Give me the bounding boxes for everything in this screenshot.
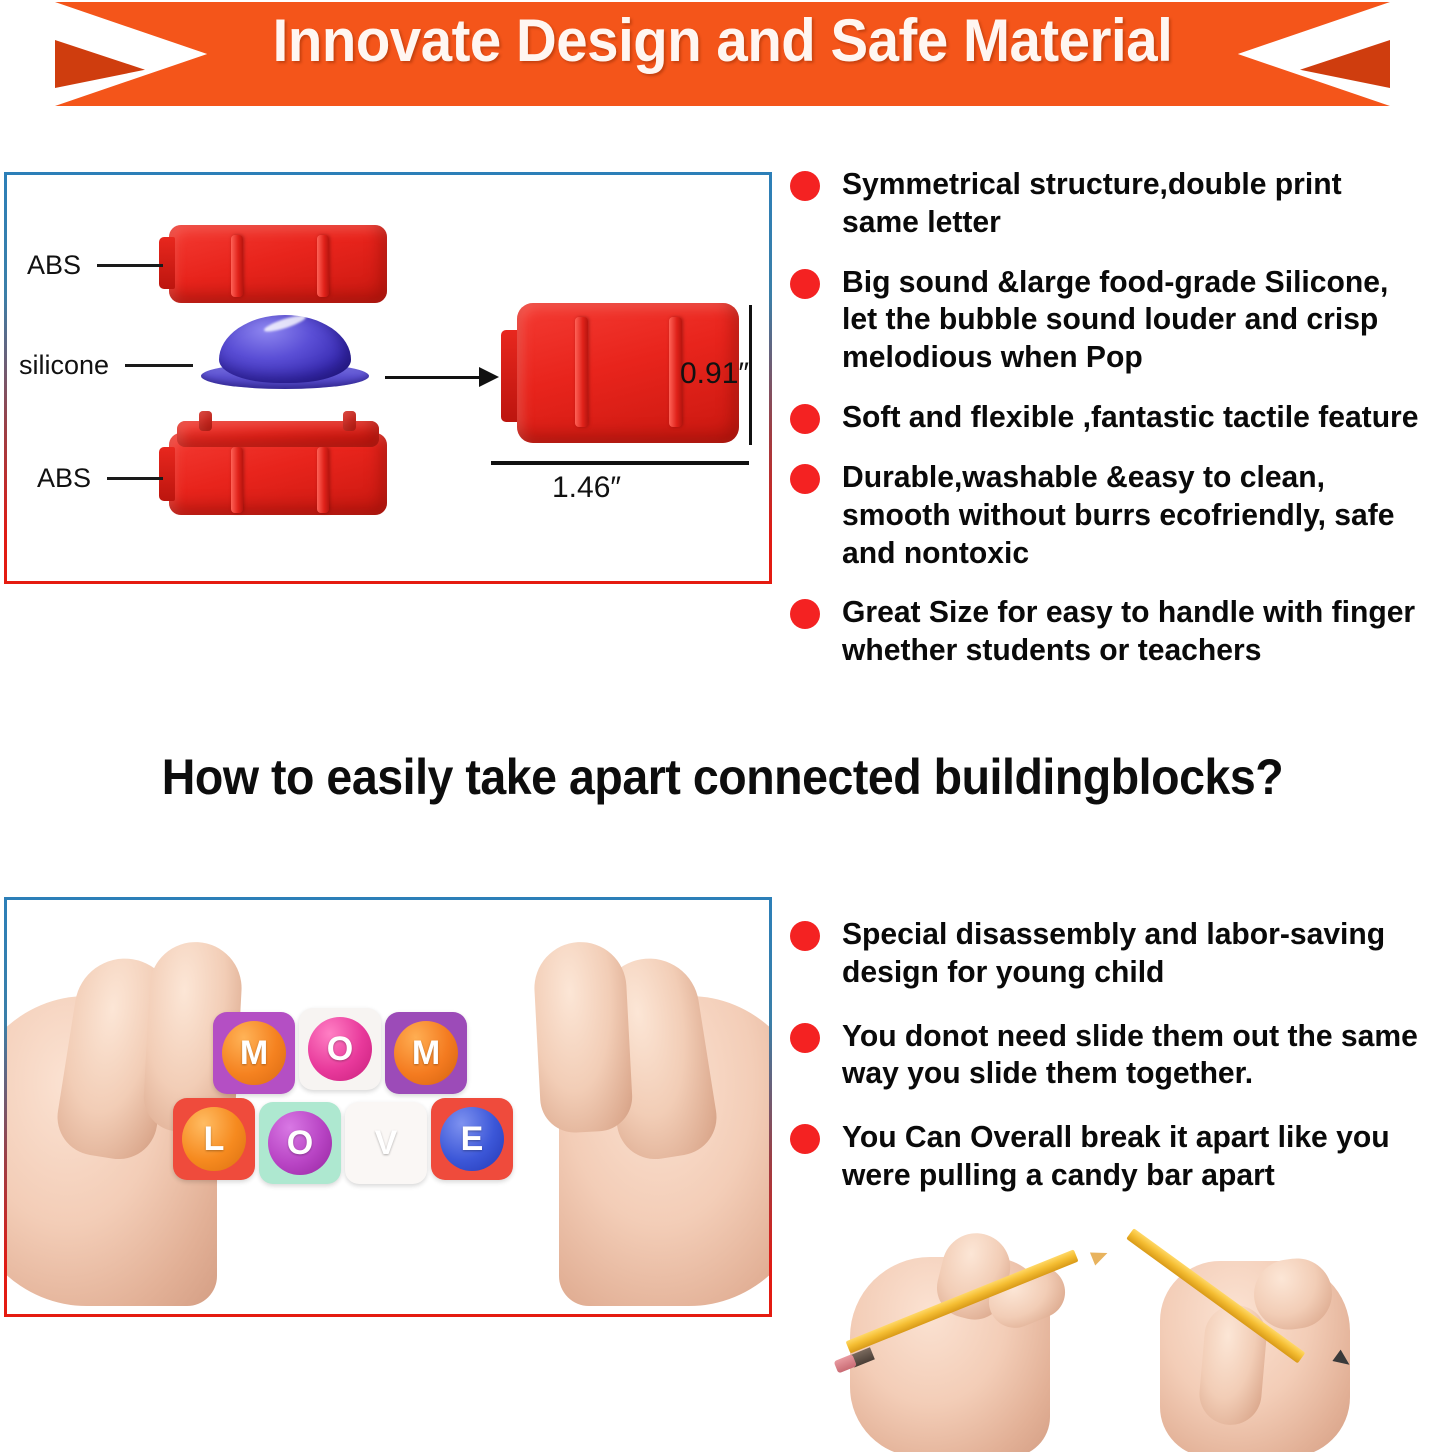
- abs-top-rib-right: [317, 235, 329, 297]
- letter-dome-o1: O: [308, 1017, 372, 1081]
- letter-block-o1[interactable]: O: [299, 1008, 381, 1090]
- dimension-height-label: 0.91″: [680, 357, 749, 391]
- hands-blocks-photo-panel: M O M L O V E: [4, 897, 772, 1317]
- list-item: Great Size for easy to handle with finge…: [790, 593, 1440, 669]
- leader-line-silicone: [125, 364, 193, 367]
- list-item: Special disassembly and labor-saving des…: [790, 915, 1440, 991]
- letter-block-l[interactable]: L: [173, 1098, 255, 1180]
- letter-dome-m1: M: [222, 1021, 286, 1085]
- bullet-dot-icon: [790, 464, 820, 494]
- letter-dome-o2: O: [268, 1111, 332, 1175]
- letter-block-o2[interactable]: O: [259, 1102, 341, 1184]
- label-silicone: silicone: [19, 350, 109, 381]
- hands-photo-canvas: M O M L O V E: [7, 900, 769, 1314]
- letter-dome-l: L: [182, 1107, 246, 1171]
- product-exploded-diagram-panel: ABS silicone ABS 0.91″ 1.46″: [4, 172, 772, 584]
- bullet-dot-icon: [790, 1023, 820, 1053]
- letter-block-m1[interactable]: M: [213, 1012, 295, 1094]
- list-item: Big sound &large food-grade Silicone, le…: [790, 263, 1440, 376]
- bullet-dot-icon: [790, 404, 820, 434]
- bullet-dot-icon: [790, 599, 820, 629]
- dimension-width-label: 1.46″: [552, 471, 621, 505]
- letter-dome-v: V: [354, 1111, 418, 1175]
- features-bullet-list: Symmetrical structure,double print same …: [790, 165, 1440, 691]
- abs-bottom-post-right: [343, 411, 356, 431]
- pencil-hands-photo: [830, 1205, 1445, 1452]
- abs-bottom-post-left: [199, 411, 212, 431]
- assembled-rib-left: [575, 317, 588, 427]
- diagram-canvas: ABS silicone ABS 0.91″ 1.46″: [7, 175, 769, 581]
- abs-top-cap: [169, 225, 387, 303]
- abs-bottom-side-tab: [159, 447, 175, 501]
- assembly-arrow-shaft: [385, 376, 481, 379]
- letter-block-e[interactable]: E: [431, 1098, 513, 1180]
- leader-line-abs-top: [97, 264, 163, 267]
- feature-text: Soft and flexible ,fantastic tactile fea…: [842, 398, 1418, 436]
- abs-top-rib-left: [231, 235, 243, 297]
- feature-text: Durable,washable &easy to clean, smooth …: [842, 458, 1422, 571]
- silicone-dome: [219, 315, 351, 383]
- abs-bottom-rib-left: [231, 447, 243, 513]
- howto-text: You Can Overall break it apart like you …: [842, 1118, 1422, 1194]
- list-item: You Can Overall break it apart like you …: [790, 1118, 1440, 1194]
- pencil-left-tip: [1090, 1247, 1110, 1266]
- list-item: Durable,washable &easy to clean, smooth …: [790, 458, 1440, 571]
- letter-dome-m2: M: [394, 1021, 458, 1085]
- label-abs-bottom: ABS: [37, 463, 91, 494]
- feature-text: Symmetrical structure,double print same …: [842, 165, 1422, 241]
- list-item: Symmetrical structure,double print same …: [790, 165, 1440, 241]
- label-abs-top: ABS: [27, 250, 81, 281]
- feature-text: Big sound &large food-grade Silicone, le…: [842, 263, 1422, 376]
- letter-block-v[interactable]: V: [345, 1102, 427, 1184]
- bullet-dot-icon: [790, 171, 820, 201]
- section-heading: How to easily take apart connected build…: [51, 748, 1395, 806]
- page-title: Innovate Design and Safe Material: [43, 6, 1401, 75]
- howto-bullet-list: Special disassembly and labor-saving des…: [790, 915, 1440, 1220]
- list-item: You donot need slide them out the same w…: [790, 1017, 1440, 1093]
- howto-text: Special disassembly and labor-saving des…: [842, 915, 1422, 991]
- abs-top-side-tab: [159, 237, 175, 289]
- abs-bottom-rib-right: [317, 447, 329, 513]
- header-banner: Innovate Design and Safe Material: [0, 0, 1445, 112]
- letter-dome-e: E: [440, 1107, 504, 1171]
- right-index-finger: [532, 940, 634, 1135]
- feature-text: Great Size for easy to handle with finge…: [842, 593, 1422, 669]
- dimension-height-line: [749, 305, 752, 445]
- letter-block-m2[interactable]: M: [385, 1012, 467, 1094]
- assembly-arrow-head: [479, 367, 499, 387]
- dimension-width-line: [491, 461, 749, 465]
- list-item: Soft and flexible ,fantastic tactile fea…: [790, 398, 1440, 436]
- howto-text: You donot need slide them out the same w…: [842, 1017, 1422, 1093]
- bullet-dot-icon: [790, 921, 820, 951]
- bullet-dot-icon: [790, 269, 820, 299]
- bullet-dot-icon: [790, 1124, 820, 1154]
- leader-line-abs-bottom: [107, 477, 163, 480]
- dome-highlight: [263, 312, 308, 334]
